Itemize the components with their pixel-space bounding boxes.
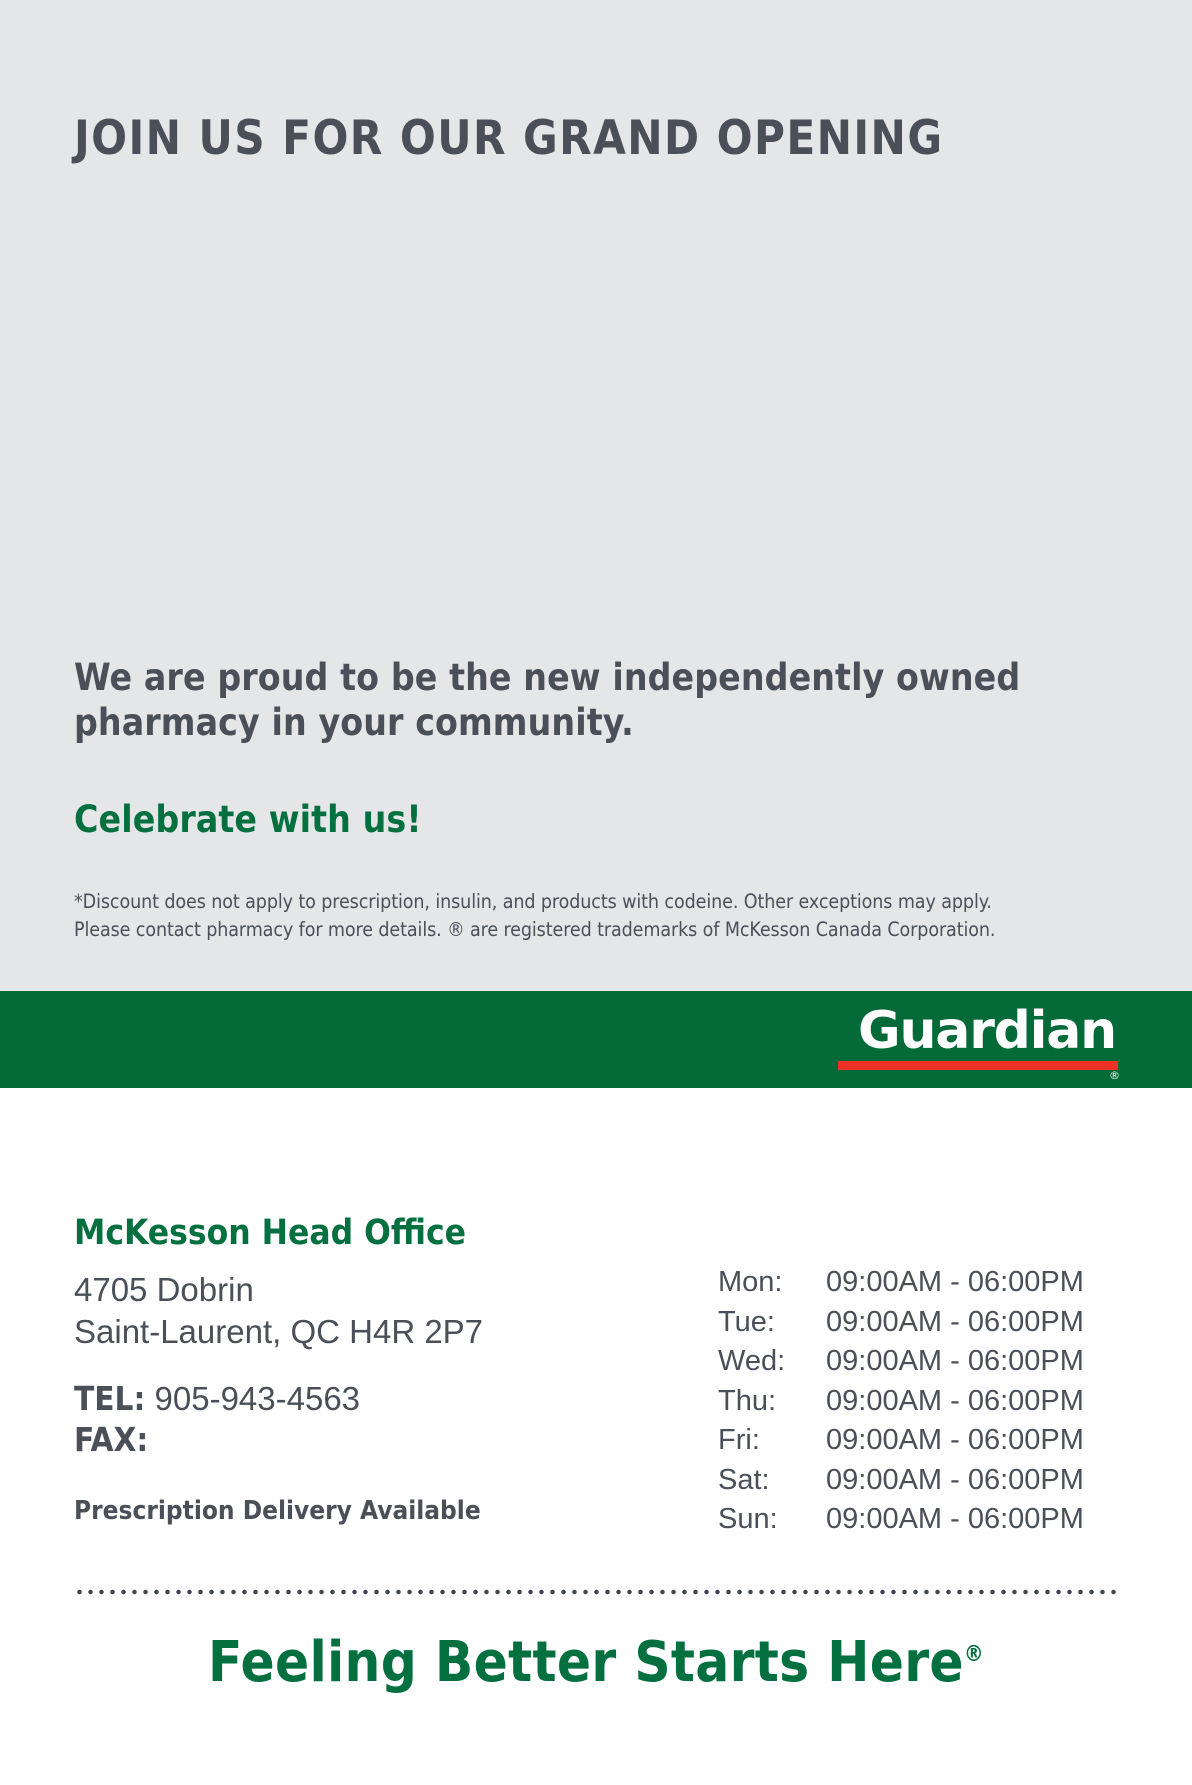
logo-red-rule: ® (838, 1061, 1118, 1070)
hours-row: Fri: 09:00AM - 06:00PM (718, 1426, 1118, 1466)
hours-row: Thu: 09:00AM - 06:00PM (718, 1387, 1118, 1427)
registered-trademark-icon: ® (964, 1642, 984, 1667)
guardian-logo: Guardian ® (838, 1005, 1118, 1070)
hours-row: Tue: 09:00AM - 06:00PM (718, 1308, 1118, 1348)
telephone-value: 905-943-4563 (155, 1380, 361, 1417)
fax-label: FAX: (74, 1420, 148, 1459)
hours-time: 09:00AM - 06:00PM (826, 1426, 1084, 1455)
disclaimer: *Discount does not apply to prescription… (74, 888, 1118, 943)
telephone-label: TEL: (74, 1379, 145, 1418)
telephone-row: TEL: 905-943-4563 (74, 1379, 634, 1420)
dotted-divider (74, 1588, 1118, 1596)
hours-row: Mon: 09:00AM - 06:00PM (718, 1268, 1118, 1308)
hours-day: Sat: (718, 1466, 826, 1495)
hours-row: Wed: 09:00AM - 06:00PM (718, 1347, 1118, 1387)
fax-row: FAX: (74, 1420, 634, 1461)
disclaimer-line-1: *Discount does not apply to prescription… (74, 888, 1118, 916)
store-contact: TEL: 905-943-4563 FAX: (74, 1379, 634, 1461)
delivery-note: Prescription Delivery Available (74, 1497, 634, 1526)
store-name: McKesson Head Office (74, 1214, 634, 1253)
hours-time: 09:00AM - 06:00PM (826, 1347, 1084, 1376)
guardian-wordmark: Guardian (838, 1005, 1118, 1057)
promo-image-placeholder (74, 200, 1118, 560)
page-title: JOIN US FOR OUR GRAND OPENING (74, 114, 1074, 163)
address-line-1: 4705 Dobrin (74, 1269, 634, 1311)
store-info-block: McKesson Head Office 4705 Dobrin Saint-L… (74, 1214, 634, 1525)
top-gray-panel: JOIN US FOR OUR GRAND OPENING We are pro… (0, 0, 1192, 991)
hours-time: 09:00AM - 06:00PM (826, 1268, 1084, 1297)
store-address: 4705 Dobrin Saint-Laurent, QC H4R 2P7 (74, 1269, 634, 1353)
address-line-2: Saint-Laurent, QC H4R 2P7 (74, 1311, 634, 1353)
disclaimer-line-2: Please contact pharmacy for more details… (74, 916, 1118, 944)
celebrate-callout: Celebrate with us! (74, 800, 422, 841)
footer-tagline: Feeling Better Starts Here® (0, 1632, 1192, 1694)
hours-day: Fri: (718, 1426, 826, 1455)
registered-trademark-icon: ® (1109, 1070, 1120, 1081)
lede-paragraph: We are proud to be the new independently… (74, 655, 1064, 745)
hours-day: Sun: (718, 1505, 826, 1534)
hours-day: Wed: (718, 1347, 826, 1376)
hours-day: Tue: (718, 1308, 826, 1337)
footer-tagline-text: Feeling Better Starts Here (208, 1630, 964, 1695)
hours-day: Thu: (718, 1387, 826, 1416)
hours-time: 09:00AM - 06:00PM (826, 1466, 1084, 1495)
hours-day: Mon: (718, 1268, 826, 1297)
grand-opening-flyer: JOIN US FOR OUR GRAND OPENING We are pro… (0, 0, 1192, 1785)
hours-time: 09:00AM - 06:00PM (826, 1387, 1084, 1416)
hours-time: 09:00AM - 06:00PM (826, 1308, 1084, 1337)
store-hours: Mon: 09:00AM - 06:00PM Tue: 09:00AM - 06… (718, 1268, 1118, 1545)
hours-row: Sat: 09:00AM - 06:00PM (718, 1466, 1118, 1506)
brand-bar: Guardian ® (0, 991, 1192, 1088)
hours-time: 09:00AM - 06:00PM (826, 1505, 1084, 1534)
hours-row: Sun: 09:00AM - 06:00PM (718, 1505, 1118, 1545)
